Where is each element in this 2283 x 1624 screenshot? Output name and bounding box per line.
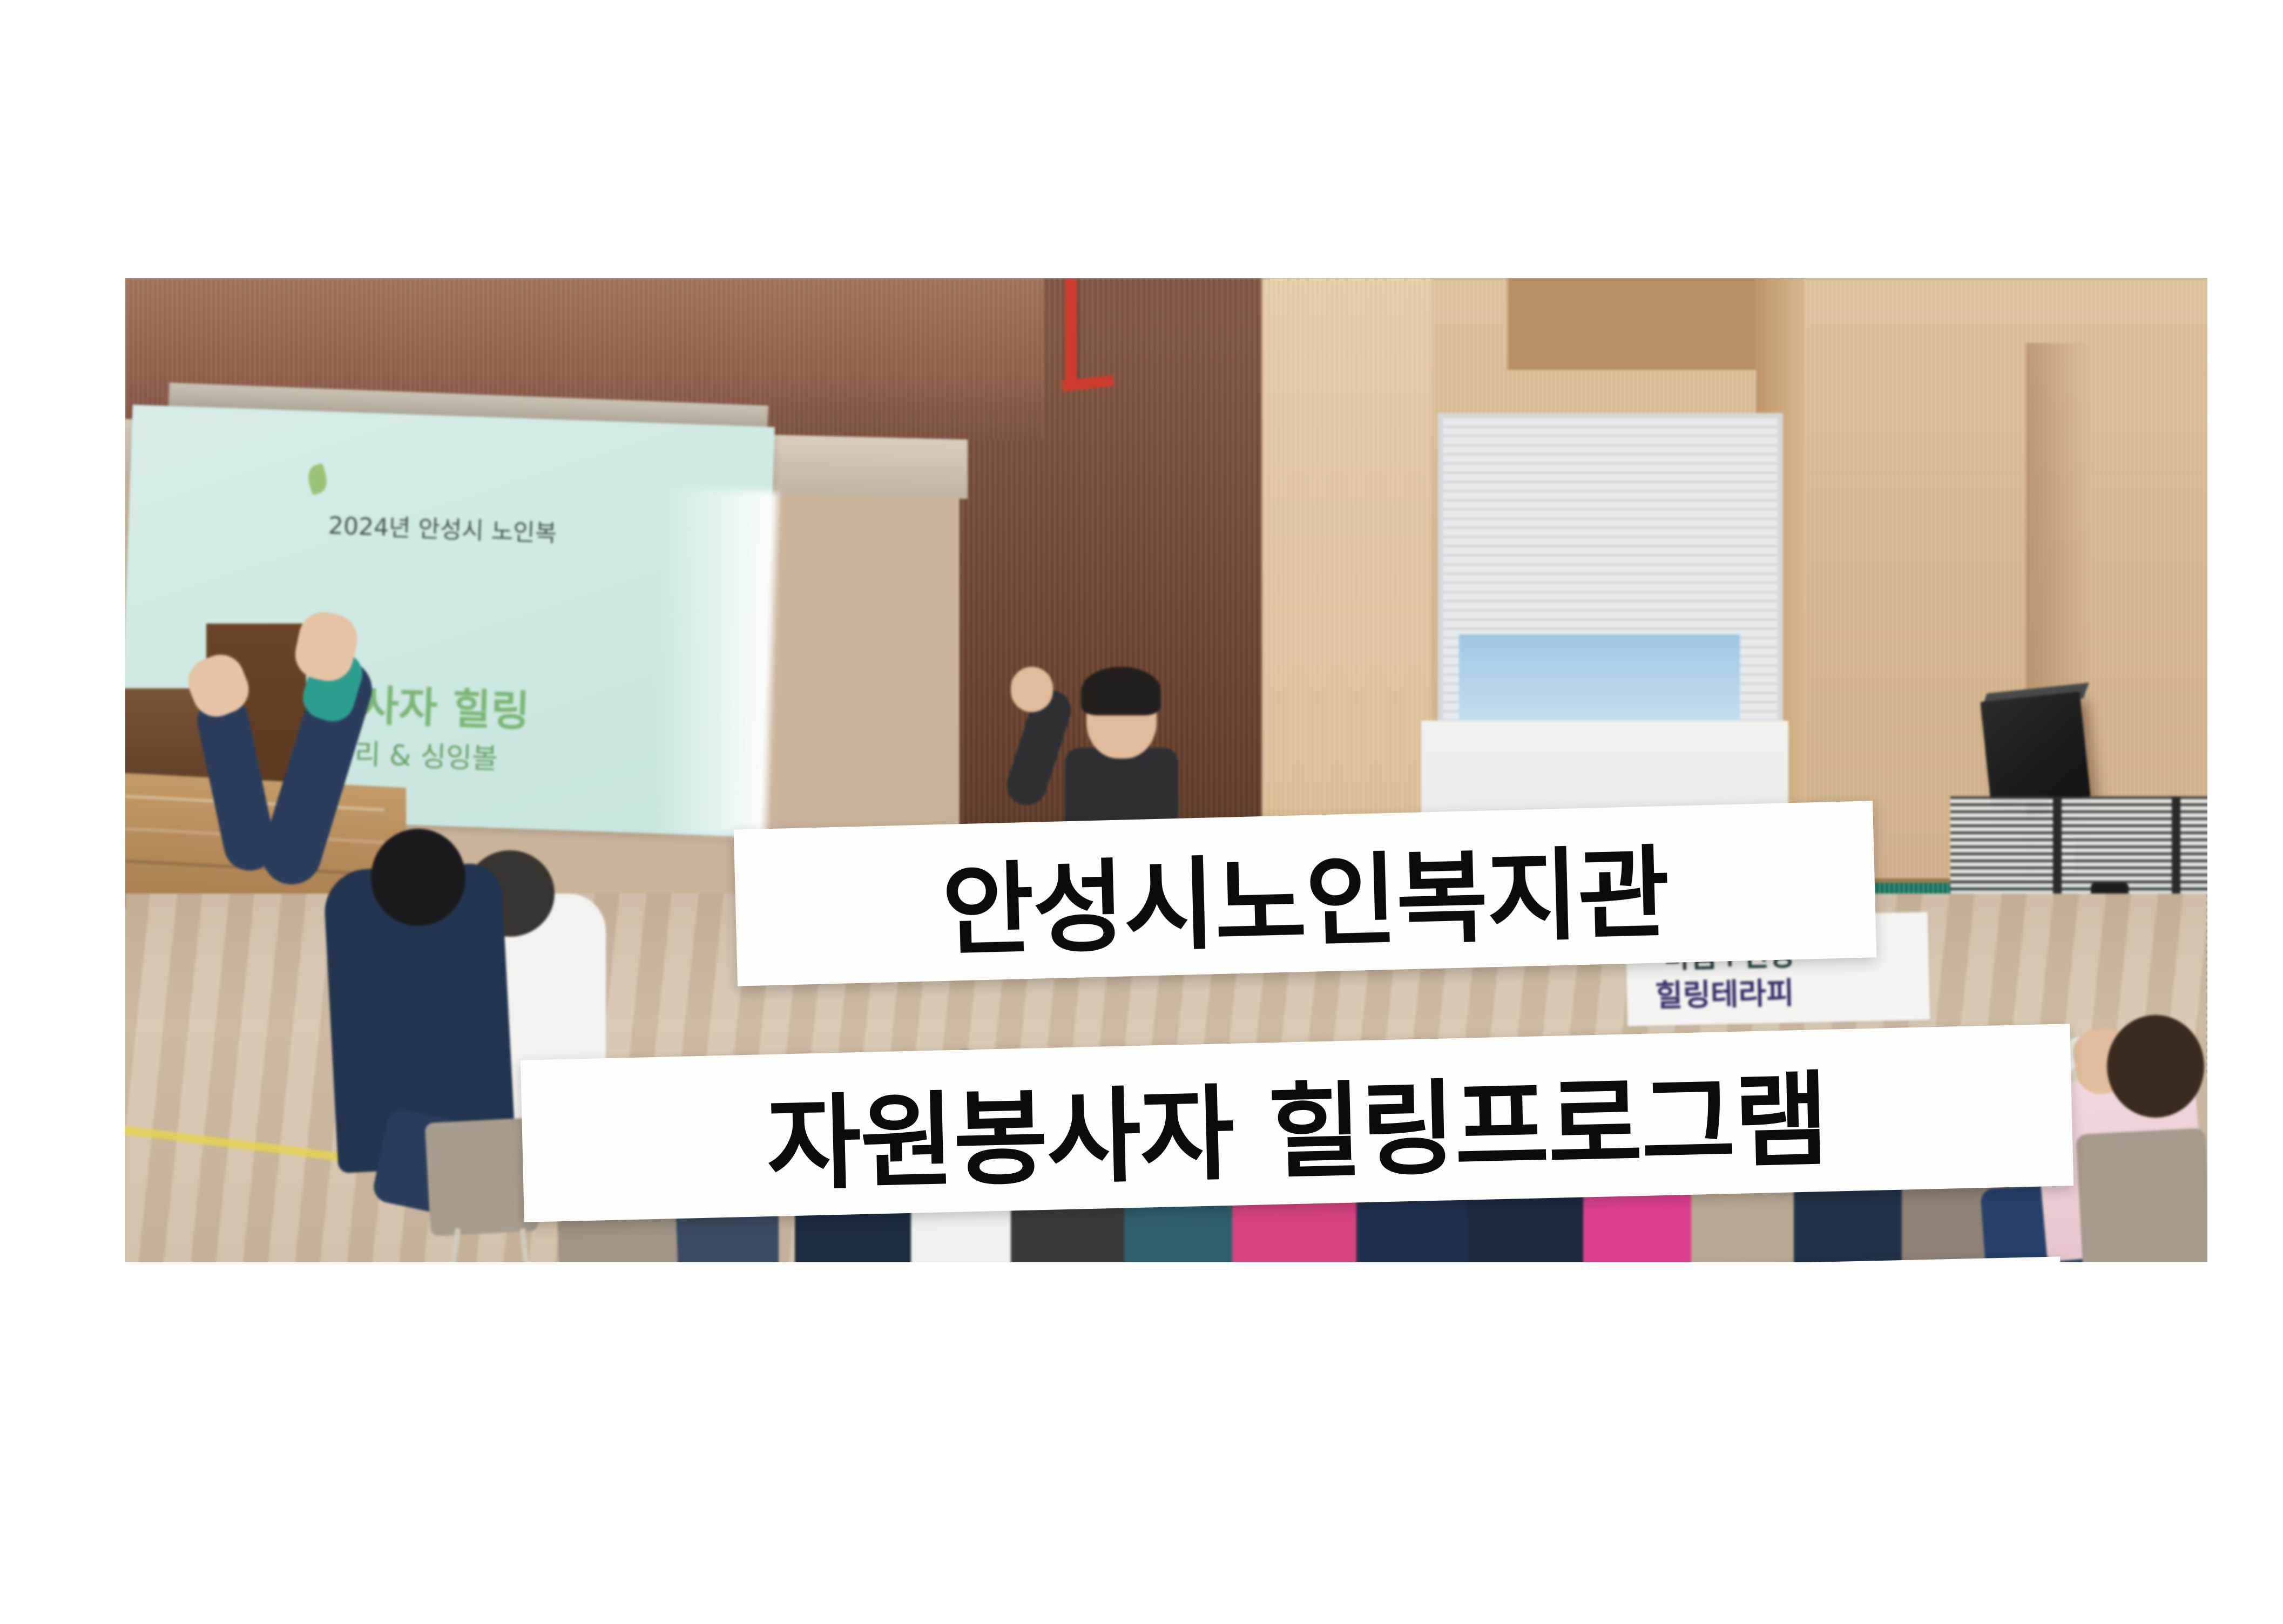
instructor-hand: [1011, 667, 1053, 712]
title-banner-organization: 안성시노인복지관: [734, 801, 1877, 986]
instructor-hair: [1081, 667, 1161, 715]
slide-leaf-icon: [305, 463, 330, 495]
slide-title-year: 2024년 안성시 노인복: [328, 506, 557, 549]
participant-navy-jacket-head: [371, 829, 465, 926]
chair: [425, 1118, 539, 1236]
wall-speaker: [1980, 692, 2090, 807]
screen-glare: [652, 488, 778, 837]
chair: [2076, 1128, 2207, 1262]
pink-jacket-participant-head: [2107, 1015, 2204, 1118]
red-pipe: [1065, 278, 1077, 386]
poster-line-2: 힐링테라피: [1654, 969, 1794, 1015]
event-photo: 2024년 안성시 노인복 자원봉사자 힐링 경혈관리 & 싱잉볼 마음+건강 …: [125, 278, 2207, 1262]
wall-recess-upper: [1508, 278, 1767, 370]
